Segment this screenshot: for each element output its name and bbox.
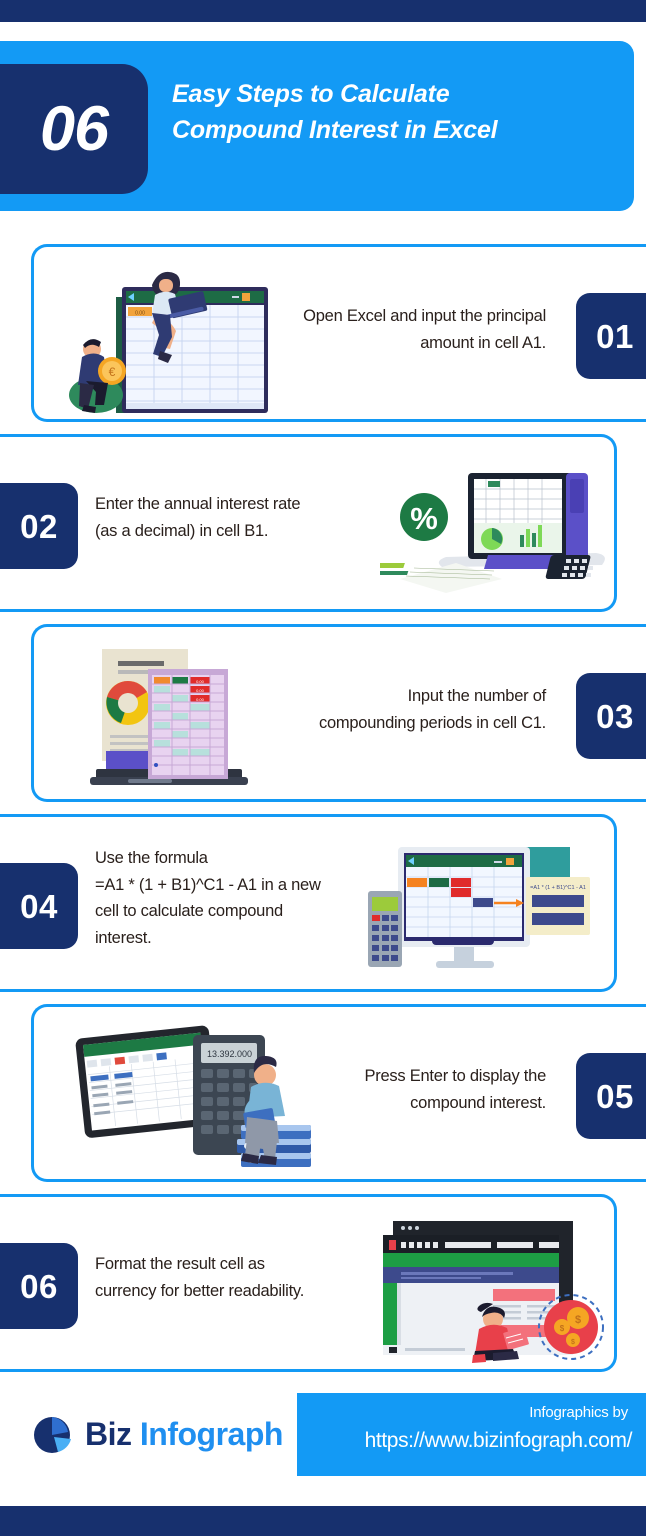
website-url[interactable]: https://www.bizinfograph.com/ bbox=[365, 1429, 632, 1453]
step-06-number-badge: 06 bbox=[0, 1243, 78, 1329]
step-05-line2: compound interest. bbox=[410, 1094, 546, 1112]
step-04-number-badge: 04 bbox=[0, 863, 78, 949]
step-02-illustration: % bbox=[380, 455, 620, 595]
step-01-line2: amount in cell A1. bbox=[420, 334, 546, 352]
top-navy-band bbox=[0, 0, 646, 22]
brand-logo[interactable]: Biz Infograph bbox=[30, 1412, 283, 1456]
step-02-line1: Enter the annual interest rate bbox=[95, 495, 300, 513]
credit-label: Infographics by bbox=[529, 1404, 628, 1421]
monitor-spreadsheet-formula-icon: =A1 * (1 + B1)^C1 - A1 bbox=[366, 833, 596, 979]
credit-url-box[interactable]: Infographics by https://www.bizinfograph… bbox=[297, 1393, 646, 1476]
step-02-number-badge: 02 bbox=[0, 483, 78, 569]
brand-name: Biz Infograph bbox=[85, 1416, 283, 1453]
laptop-donut-chart-table-icon: 0.00 0.00 0.00 bbox=[66, 639, 276, 791]
svg-text:0.00: 0.00 bbox=[135, 311, 145, 317]
laptop-percent-charts-icon: % bbox=[380, 455, 620, 595]
step-01-number: 01 bbox=[596, 320, 634, 353]
step-card-01[interactable]: 0.00 € bbox=[31, 244, 646, 422]
step-06-text: Format the result cell as currency for b… bbox=[95, 1251, 395, 1304]
step-04-line2: =A1 * (1 + B1)^C1 - A1 in a new bbox=[95, 876, 321, 894]
svg-text:0.00: 0.00 bbox=[196, 688, 205, 693]
page-title-line2: Compound Interest in Excel bbox=[172, 113, 624, 149]
infographic-page: 06 Easy Steps to Calculate Compound Inte… bbox=[0, 0, 646, 1536]
step-03-line1: Input the number of bbox=[408, 687, 546, 705]
svg-text:13.392.000: 13.392.000 bbox=[207, 1049, 252, 1059]
pie-chart-logo-icon bbox=[30, 1412, 74, 1456]
step-02-text: Enter the annual interest rate (as a dec… bbox=[95, 491, 395, 544]
step-05-line1: Press Enter to display the bbox=[364, 1067, 546, 1085]
brand-name-first: Biz bbox=[85, 1416, 132, 1452]
step-04-line3: cell to calculate compound bbox=[95, 902, 283, 920]
step-03-number-badge: 03 bbox=[576, 673, 646, 759]
step-card-02[interactable]: Enter the annual interest rate (as a dec… bbox=[0, 434, 617, 612]
step-01-number-badge: 01 bbox=[576, 293, 646, 379]
step-03-number: 03 bbox=[596, 700, 634, 733]
svg-text:=A1 * (1 + B1)^C1 - A1: =A1 * (1 + B1)^C1 - A1 bbox=[530, 885, 586, 891]
step-05-number-badge: 05 bbox=[576, 1053, 646, 1139]
step-03-illustration: 0.00 0.00 0.00 bbox=[66, 639, 276, 791]
step-06-number: 06 bbox=[20, 1270, 58, 1303]
header-step-count-badge: 06 bbox=[0, 64, 148, 194]
step-04-line4: interest. bbox=[95, 929, 151, 947]
step-card-03[interactable]: 0.00 0.00 0.00 bbox=[31, 624, 646, 802]
step-card-06[interactable]: Format the result cell as currency for b… bbox=[0, 1194, 617, 1372]
svg-text:0.00: 0.00 bbox=[196, 679, 205, 684]
brand-name-second: Infograph bbox=[140, 1416, 283, 1452]
bottom-navy-band bbox=[0, 1506, 646, 1536]
svg-text:%: % bbox=[410, 501, 438, 536]
step-04-illustration: =A1 * (1 + B1)^C1 - A1 bbox=[366, 833, 596, 979]
step-card-04[interactable]: Use the formula =A1 * (1 + B1)^C1 - A1 i… bbox=[0, 814, 617, 992]
step-01-text: Open Excel and input the principal amoun… bbox=[246, 303, 546, 356]
step-04-number: 04 bbox=[20, 890, 58, 923]
svg-text:$: $ bbox=[560, 1324, 565, 1333]
step-01-line1: Open Excel and input the principal bbox=[303, 307, 546, 325]
page-title-line1: Easy Steps to Calculate bbox=[172, 80, 449, 108]
step-05-number: 05 bbox=[596, 1080, 634, 1113]
step-04-text: Use the formula =A1 * (1 + B1)^C1 - A1 i… bbox=[95, 845, 405, 952]
header-banner: 06 Easy Steps to Calculate Compound Inte… bbox=[0, 41, 634, 211]
step-02-line2: (as a decimal) in cell B1. bbox=[95, 522, 268, 540]
step-03-text: Input the number of compounding periods … bbox=[246, 683, 546, 736]
step-03-line2: compounding periods in cell C1. bbox=[319, 714, 546, 732]
step-04-line1: Use the formula bbox=[95, 849, 208, 867]
page-title: Easy Steps to Calculate Compound Interes… bbox=[172, 77, 624, 148]
step-06-line1: Format the result cell as bbox=[95, 1255, 265, 1273]
step-05-text: Press Enter to display the compound inte… bbox=[246, 1063, 546, 1116]
header-step-count: 06 bbox=[40, 98, 108, 161]
svg-text:0.00: 0.00 bbox=[196, 697, 205, 702]
step-card-05[interactable]: 13.392.000 bbox=[31, 1004, 646, 1182]
step-02-number: 02 bbox=[20, 510, 58, 543]
step-06-line2: currency for better readability. bbox=[95, 1282, 304, 1300]
svg-text:$: $ bbox=[575, 1314, 581, 1326]
step-06-illustration: $ $ $ bbox=[375, 1207, 610, 1367]
browser-window-man-coins-icon: $ $ $ bbox=[375, 1207, 610, 1367]
svg-text:€: € bbox=[109, 365, 116, 379]
svg-text:$: $ bbox=[571, 1339, 575, 1346]
